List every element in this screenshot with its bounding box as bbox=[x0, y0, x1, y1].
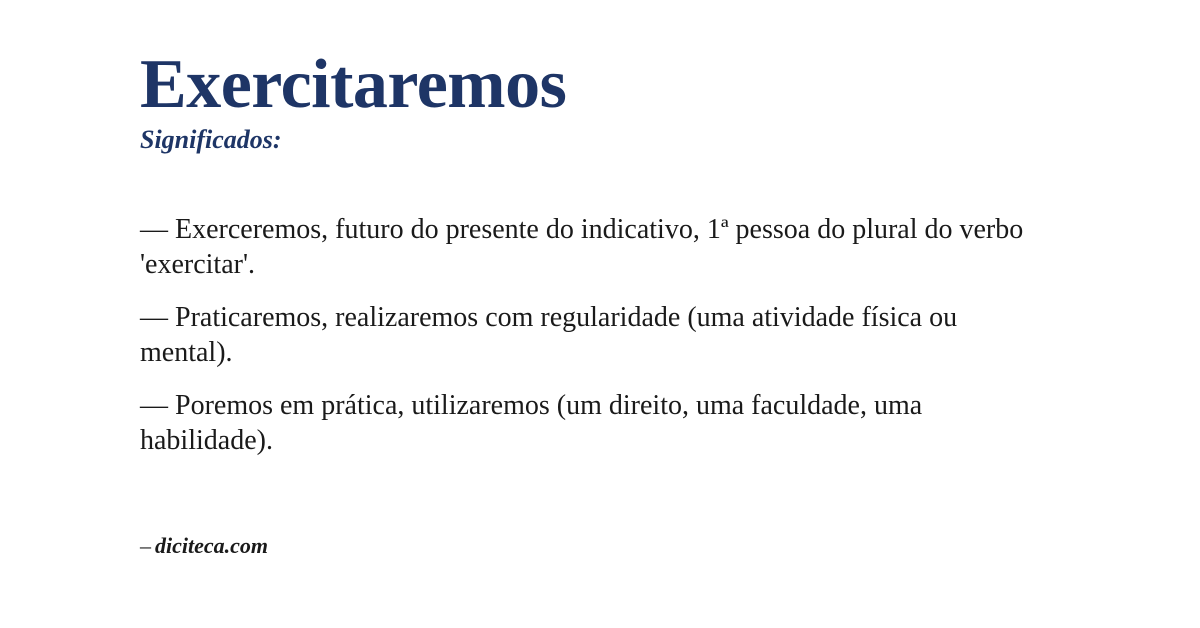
definitions-list: — Exerceremos, futuro do presente do ind… bbox=[140, 212, 1040, 458]
definition-text: Exerceremos, futuro do presente do indic… bbox=[140, 214, 1023, 280]
card-header: Exercitaremos Significados: bbox=[140, 50, 1060, 155]
em-dash-marker: — bbox=[140, 302, 168, 333]
em-dash-marker: — bbox=[140, 390, 168, 421]
list-item: — Exerceremos, futuro do presente do ind… bbox=[140, 212, 1040, 282]
dash-marker: – bbox=[140, 533, 155, 558]
definition-card: Exercitaremos Significados: — Exerceremo… bbox=[0, 0, 1200, 628]
source-domain: diciteca.com bbox=[155, 533, 268, 558]
em-dash-marker: — bbox=[140, 214, 168, 245]
definition-text: Poremos em prática, utilizaremos (um dir… bbox=[140, 390, 922, 456]
definition-text: Praticaremos, realizaremos com regularid… bbox=[140, 302, 957, 368]
source-attribution: –diciteca.com bbox=[140, 533, 268, 559]
page-title: Exercitaremos bbox=[140, 50, 1060, 120]
list-item: — Poremos em prática, utilizaremos (um d… bbox=[140, 388, 1040, 458]
meanings-label: Significados: bbox=[140, 126, 1060, 155]
list-item: — Praticaremos, realizaremos com regular… bbox=[140, 300, 1040, 370]
